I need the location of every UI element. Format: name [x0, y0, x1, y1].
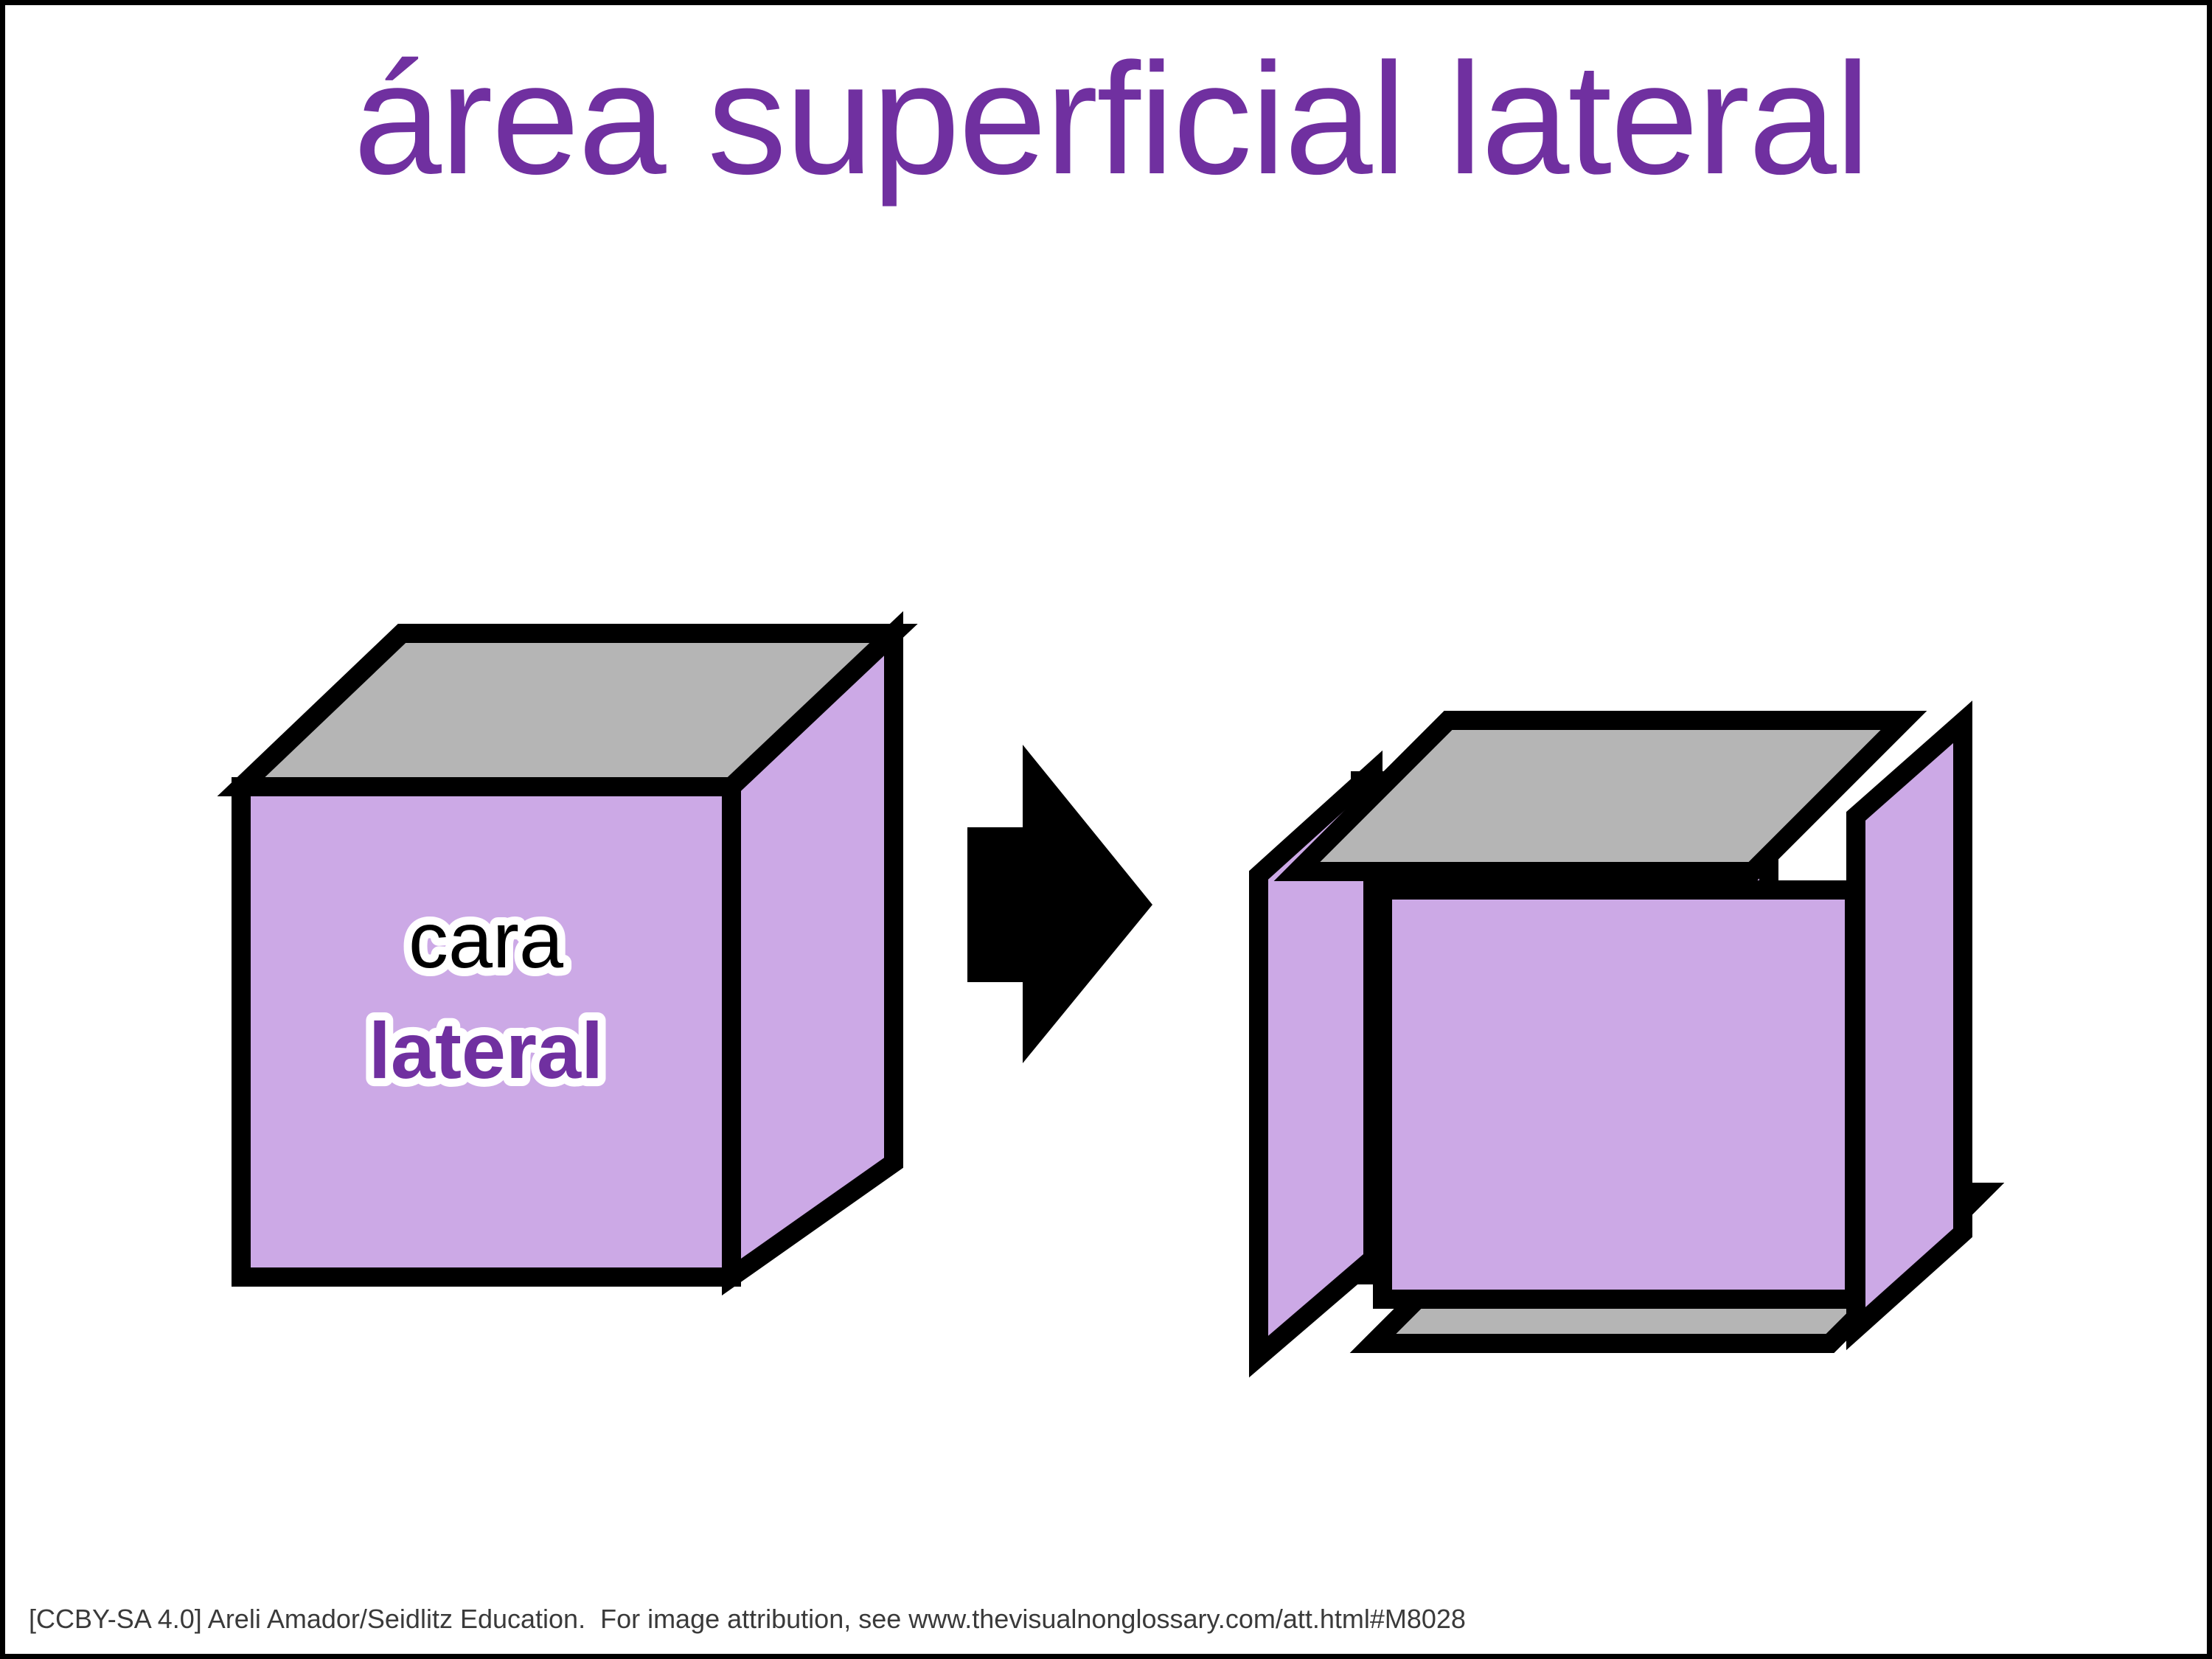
geometry-diagram: cara lateral — [5, 521, 2212, 1391]
exploded-cube-right-face — [1856, 722, 1963, 1329]
solid-cube-label-line2: lateral — [369, 1006, 603, 1095]
solid-cube-label-line1: cara — [408, 895, 564, 984]
exploded-cube-top-face — [1297, 720, 1904, 872]
page-title: área superficial lateral — [5, 27, 2212, 209]
arrow-shape — [967, 745, 1152, 1063]
solid-cube: cara lateral — [241, 633, 894, 1277]
exploded-cube — [1259, 720, 1981, 1357]
slide-page: área superficial lateral cara lateral — [0, 0, 2212, 1659]
attribution-footer: [CCBY-SA 4.0] Areli Amador/Seidlitz Educ… — [29, 1604, 1466, 1635]
right-arrow-icon — [967, 745, 1152, 1063]
exploded-cube-front-face — [1382, 890, 1854, 1299]
